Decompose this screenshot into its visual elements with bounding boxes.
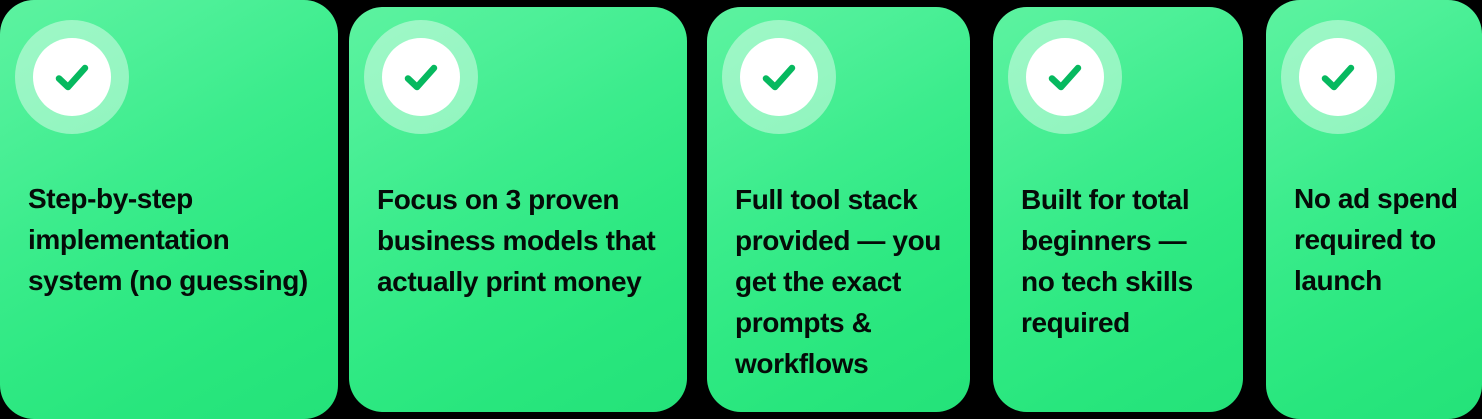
benefit-card[interactable]: Focus on 3 proven business models that a… [349,7,687,412]
icon-disc [740,38,818,116]
benefit-card-text: Built for total beginners — no tech skil… [1021,179,1223,343]
check-icon [755,53,803,101]
benefit-card-text: Focus on 3 proven business models that a… [377,179,667,302]
benefit-card[interactable]: No ad spend required to launch [1266,0,1482,419]
benefit-card-text: Step-by-step implementation system (no g… [28,178,318,301]
check-icon [397,53,445,101]
check-icon [1314,53,1362,101]
benefit-card-inner: Built for total beginners — no tech skil… [993,7,1243,412]
icon-disc [382,38,460,116]
benefit-card-inner: Step-by-step implementation system (no g… [0,0,338,419]
benefit-card-inner: Full tool stack provided — you get the e… [707,7,970,412]
benefit-card[interactable]: Built for total beginners — no tech skil… [993,7,1243,412]
icon-disc [1026,38,1104,116]
icon-disc [33,38,111,116]
check-icon-wrap [364,20,478,134]
benefit-card[interactable]: Step-by-step implementation system (no g… [0,0,338,419]
check-icon-wrap [722,20,836,134]
check-icon [48,53,96,101]
benefit-card-text: Full tool stack provided — you get the e… [735,179,950,384]
benefit-card[interactable]: Full tool stack provided — you get the e… [707,7,970,412]
check-icon-wrap [15,20,129,134]
benefit-card-inner: Focus on 3 proven business models that a… [349,7,687,412]
check-icon-wrap [1281,20,1395,134]
benefit-card-strip: Step-by-step implementation system (no g… [0,0,1482,419]
benefit-card-inner: No ad spend required to launch [1266,0,1482,419]
icon-disc [1299,38,1377,116]
benefit-card-text: No ad spend required to launch [1294,178,1462,301]
check-icon-wrap [1008,20,1122,134]
check-icon [1041,53,1089,101]
